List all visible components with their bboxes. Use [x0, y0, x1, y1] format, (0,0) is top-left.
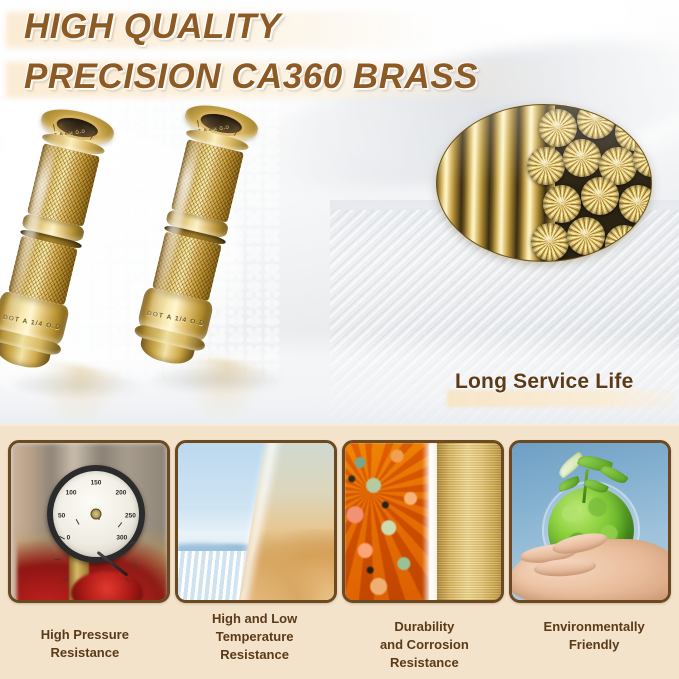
caption-line: Friendly	[515, 636, 673, 654]
hero-section: HIGH QUALITY PRECISION CA360 BRASS DOT A…	[0, 0, 679, 424]
feature-image-eco-friendly[interactable]	[509, 440, 671, 603]
tagline: Long Service Life	[455, 370, 633, 394]
nut-engraving-text: DOT A 1/4 O.D	[2, 314, 61, 332]
gauge-tick-200: 200	[116, 490, 127, 497]
page-title: HIGH QUALITY PRECISION CA360 BRASS	[24, 6, 624, 98]
headline-line-2: PRECISION CA360 BRASS	[24, 56, 624, 98]
gauge-tick-100: 100	[66, 490, 77, 497]
caption-line: Durability	[346, 618, 504, 636]
nut-engraving-text: DOT A 1/4 O.D	[146, 310, 205, 328]
caption-line: Resistance	[176, 646, 334, 664]
gauge-tick-0: 0	[67, 535, 71, 542]
headline-line-1: HIGH QUALITY	[24, 6, 624, 48]
gauge-tick-300: 300	[116, 535, 127, 542]
knurled-barrel-upper	[171, 139, 244, 223]
product-infographic: HIGH QUALITY PRECISION CA360 BRASS DOT A…	[0, 0, 679, 679]
knurled-barrel-upper	[27, 143, 100, 227]
caption-line: High and Low	[176, 610, 334, 628]
feature-card-row: 0 50 100 150 200 250 300	[8, 440, 671, 603]
feature-image-temperature[interactable]	[175, 440, 337, 603]
brass-rod-ends	[533, 104, 652, 262]
gauge-tick-150: 150	[91, 480, 102, 487]
caption-line: and Corrosion	[346, 636, 504, 654]
feature-panel: 0 50 100 150 200 250 300	[0, 424, 679, 679]
caption-line: High Pressure	[6, 626, 164, 644]
feature-caption-row: High Pressure Resistance High and Low Te…	[0, 608, 679, 672]
brushed-brass-surface	[437, 443, 504, 603]
feature-caption-temperature: High and Low Temperature Resistance	[170, 608, 340, 672]
caption-line: Resistance	[346, 654, 504, 672]
feature-image-corrosion[interactable]	[342, 440, 504, 603]
caption-line: Environmentally	[515, 618, 673, 636]
caption-line: Temperature	[176, 628, 334, 646]
feature-caption-high-pressure: High Pressure Resistance	[0, 608, 170, 672]
feature-caption-corrosion: Durability and Corrosion Resistance	[340, 608, 510, 672]
feature-caption-eco-friendly: Environmentally Friendly	[509, 608, 679, 672]
pressure-gauge-icon: 0 50 100 150 200 250 300	[47, 465, 145, 563]
gauge-tick-50: 50	[58, 512, 65, 519]
feature-image-high-pressure[interactable]: 0 50 100 150 200 250 300	[8, 440, 170, 603]
caption-line: Resistance	[6, 644, 164, 662]
gauge-tick-250: 250	[125, 512, 136, 519]
hand-fingers	[518, 535, 638, 575]
gauge-hub	[91, 509, 102, 520]
corroded-surface	[345, 443, 429, 603]
tagline-text: Long Service Life	[455, 370, 633, 394]
brass-rod-bundle-inset	[436, 104, 652, 262]
